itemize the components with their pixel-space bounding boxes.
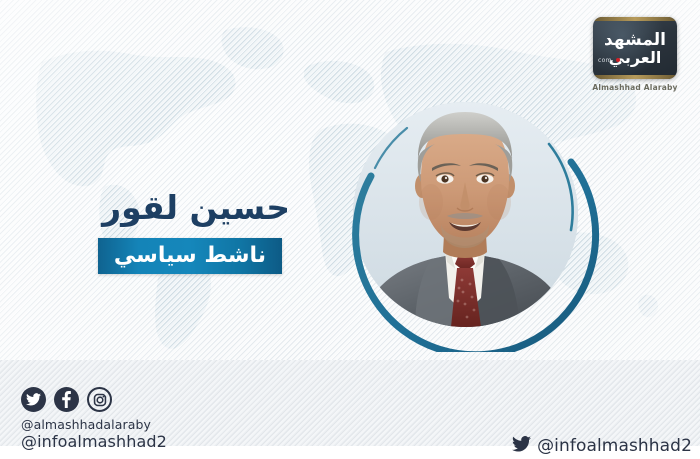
corner-handle-label: @infoalmashhad2 — [537, 436, 692, 456]
logo-bottom-bar — [593, 75, 677, 79]
role-badge-label: ناشط سياسي — [114, 245, 266, 267]
graphic-card: المشهد العربي com Almashhad Alaraby — [0, 0, 700, 459]
corner-twitter-icon — [512, 436, 531, 456]
facebook-icon[interactable] — [54, 387, 79, 412]
portrait-container — [335, 80, 605, 352]
person-name: حسين لقور — [105, 188, 290, 227]
instagram-icon[interactable] — [87, 387, 112, 412]
brand-logo: المشهد العربي com Almashhad Alaraby — [593, 17, 677, 97]
logo-box: المشهد العربي com — [593, 17, 677, 79]
twitter-icon[interactable] — [21, 387, 46, 412]
logo-red-dot-icon — [616, 58, 620, 62]
handle-secondary[interactable]: @infoalmashhad2 — [21, 432, 167, 451]
logo-com-label: com — [598, 57, 612, 64]
logo-arabic-text: المشهد العربي — [604, 29, 666, 67]
social-handles: @almashhadalaraby @infoalmashhad2 — [21, 417, 167, 451]
role-badge: ناشط سياسي — [98, 238, 282, 274]
social-icon-row — [21, 387, 112, 412]
decorative-ring — [335, 80, 605, 352]
logo-line-2: العربي — [604, 50, 666, 67]
corner-twitter-handle[interactable]: @infoalmashhad2 — [512, 436, 692, 456]
logo-top-bar — [593, 17, 677, 21]
handle-primary[interactable]: @almashhadalaraby — [21, 417, 167, 432]
logo-caption: Almashhad Alaraby — [592, 83, 677, 92]
